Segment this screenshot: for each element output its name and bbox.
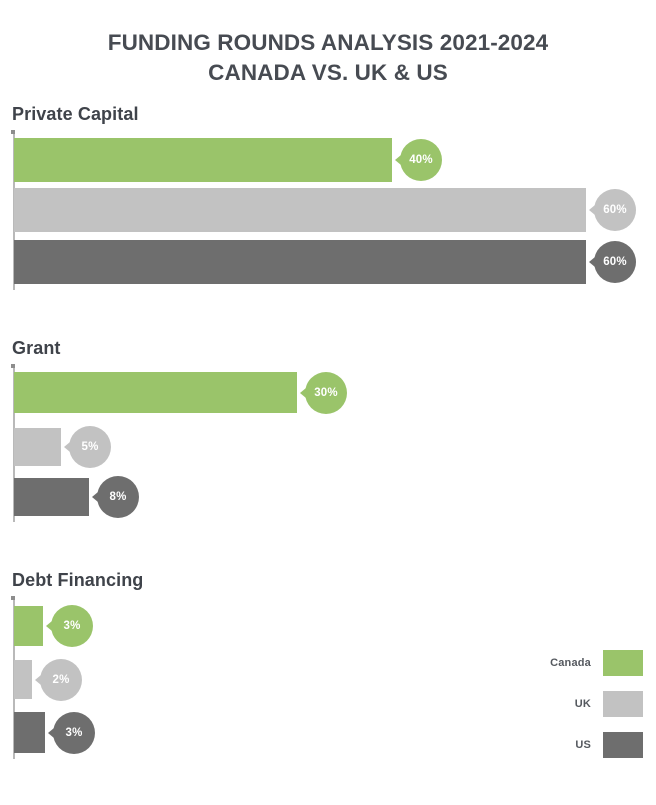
bar-us[interactable] xyxy=(14,240,586,284)
legend-color-swatch xyxy=(603,691,643,717)
bar-value-label: 3% xyxy=(65,727,82,739)
badge-pointer-icon xyxy=(35,675,41,685)
bar-row[interactable]: 3% xyxy=(14,606,103,646)
badge-pointer-icon xyxy=(46,621,52,631)
section-label: Grant xyxy=(12,338,61,359)
bar-row[interactable]: 5% xyxy=(14,428,121,466)
title-line-2: CANADA VS. UK & US xyxy=(0,58,656,88)
bar-row[interactable]: 2% xyxy=(14,660,92,699)
legend-item-label: US xyxy=(575,739,591,751)
bar-us[interactable] xyxy=(14,478,89,516)
legend-color-swatch xyxy=(603,650,643,676)
bar-value-badge: 60% xyxy=(594,189,636,231)
legend-color-swatch xyxy=(603,732,643,758)
bar-value-badge: 60% xyxy=(594,241,636,283)
bar-canada[interactable] xyxy=(14,138,392,182)
bar-uk[interactable] xyxy=(14,660,32,699)
bar-value-label: 2% xyxy=(52,674,69,686)
bar-row[interactable]: 30% xyxy=(14,372,357,413)
badge-pointer-icon xyxy=(395,155,401,165)
bar-value-label: 30% xyxy=(314,387,338,399)
legend-item-us[interactable]: US xyxy=(575,732,643,758)
bar-value-badge: 3% xyxy=(53,712,95,754)
bar-row[interactable]: 8% xyxy=(14,478,149,516)
bar-row[interactable]: 3% xyxy=(14,712,105,753)
badge-pointer-icon xyxy=(48,728,54,738)
bar-value-label: 60% xyxy=(603,256,627,268)
bar-canada[interactable] xyxy=(14,606,43,646)
bar-value-label: 3% xyxy=(63,620,80,632)
badge-pointer-icon xyxy=(589,257,595,267)
badge-pointer-icon xyxy=(64,442,70,452)
bar-us[interactable] xyxy=(14,712,45,753)
section-label: Private Capital xyxy=(12,104,139,125)
title-line-1: FUNDING ROUNDS ANALYSIS 2021-2024 xyxy=(0,28,656,58)
bar-value-badge: 8% xyxy=(97,476,139,518)
bar-uk[interactable] xyxy=(14,428,61,466)
bar-value-label: 40% xyxy=(409,154,433,166)
chart-container: FUNDING ROUNDS ANALYSIS 2021-2024 CANADA… xyxy=(0,0,656,805)
bar-row[interactable]: 60% xyxy=(14,240,646,284)
legend-item-uk[interactable]: UK xyxy=(575,691,643,717)
bar-value-label: 8% xyxy=(109,491,126,503)
legend-item-label: UK xyxy=(575,698,591,710)
chart-legend: CanadaUKUS xyxy=(503,650,643,773)
bar-value-badge: 40% xyxy=(400,139,442,181)
section-label: Debt Financing xyxy=(12,570,143,591)
legend-item-canada[interactable]: Canada xyxy=(550,650,643,676)
bar-value-badge: 30% xyxy=(305,372,347,414)
bar-canada[interactable] xyxy=(14,372,297,413)
badge-pointer-icon xyxy=(300,388,306,398)
badge-pointer-icon xyxy=(92,492,98,502)
bar-value-label: 5% xyxy=(81,441,98,453)
bar-value-badge: 2% xyxy=(40,659,82,701)
bar-value-badge: 3% xyxy=(51,605,93,647)
badge-pointer-icon xyxy=(589,205,595,215)
bar-value-label: 60% xyxy=(603,204,627,216)
bar-row[interactable]: 60% xyxy=(14,188,646,232)
legend-item-label: Canada xyxy=(550,657,591,669)
bar-value-badge: 5% xyxy=(69,426,111,468)
chart-title: FUNDING ROUNDS ANALYSIS 2021-2024 CANADA… xyxy=(0,28,656,88)
bar-uk[interactable] xyxy=(14,188,586,232)
bar-row[interactable]: 40% xyxy=(14,138,452,182)
